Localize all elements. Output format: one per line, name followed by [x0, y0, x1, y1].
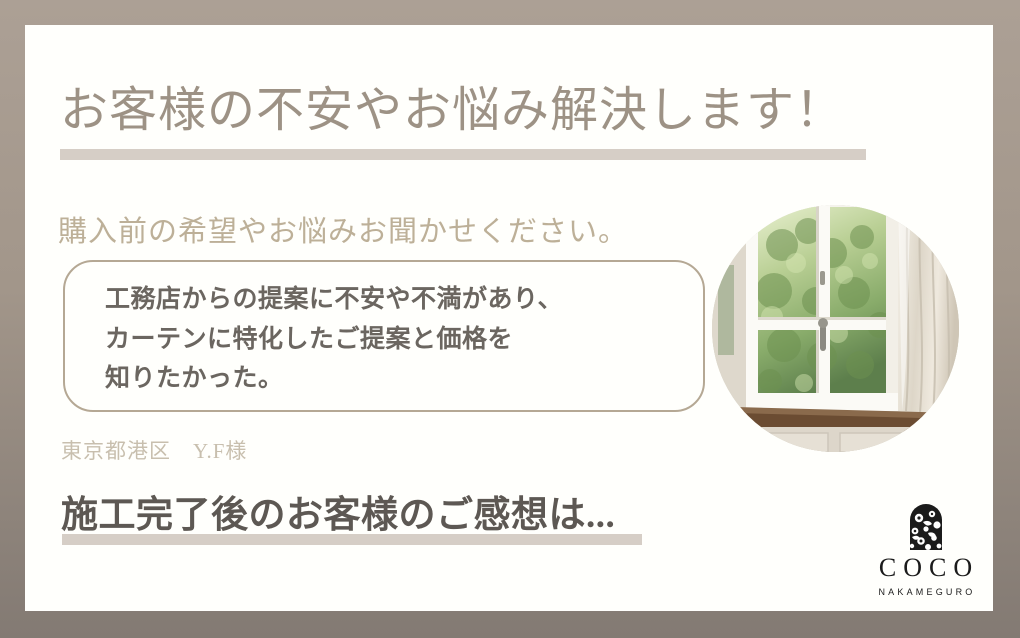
- arch-floral-emblem-icon: [906, 502, 946, 550]
- logo-subtitle: NAKAMEGURO: [863, 587, 988, 597]
- page-title-underline: [60, 149, 866, 160]
- subheading: 購入前の希望やお悩みお聞かせください。: [58, 208, 628, 250]
- customer-attribution: 東京都港区 Y.F様: [61, 435, 247, 465]
- quote-line: 工務店からの提案に不安や不満があり、: [105, 280, 563, 320]
- page-title: お客様の不安やお悩み解決します！: [60, 83, 844, 138]
- section-heading-underline: [62, 534, 642, 545]
- window-photo: [712, 205, 959, 452]
- quote-line: カーテンに特化したご提案と価格を: [105, 320, 563, 360]
- customer-quote-box: 工務店からの提案に不安や不満があり、 カーテンに特化したご提案と価格を 知りたか…: [63, 260, 705, 412]
- brand-logo: COCO NAKAMEGURO: [863, 502, 988, 597]
- quote-line: 知りたかった。: [105, 359, 563, 399]
- window-photo-icon: [712, 205, 959, 452]
- slide-canvas: お客様の不安やお悩み解決します！ 購入前の希望やお悩みお聞かせください。 工務店…: [0, 0, 1020, 638]
- section-heading-result: 施工完了後のお客様のご感想は...: [61, 484, 615, 538]
- customer-quote-text: 工務店からの提案に不安や不満があり、 カーテンに特化したご提案と価格を 知りたか…: [105, 280, 563, 399]
- logo-wordmark: COCO: [863, 555, 988, 581]
- content-card: お客様の不安やお悩み解決します！ 購入前の希望やお悩みお聞かせください。 工務店…: [25, 25, 993, 611]
